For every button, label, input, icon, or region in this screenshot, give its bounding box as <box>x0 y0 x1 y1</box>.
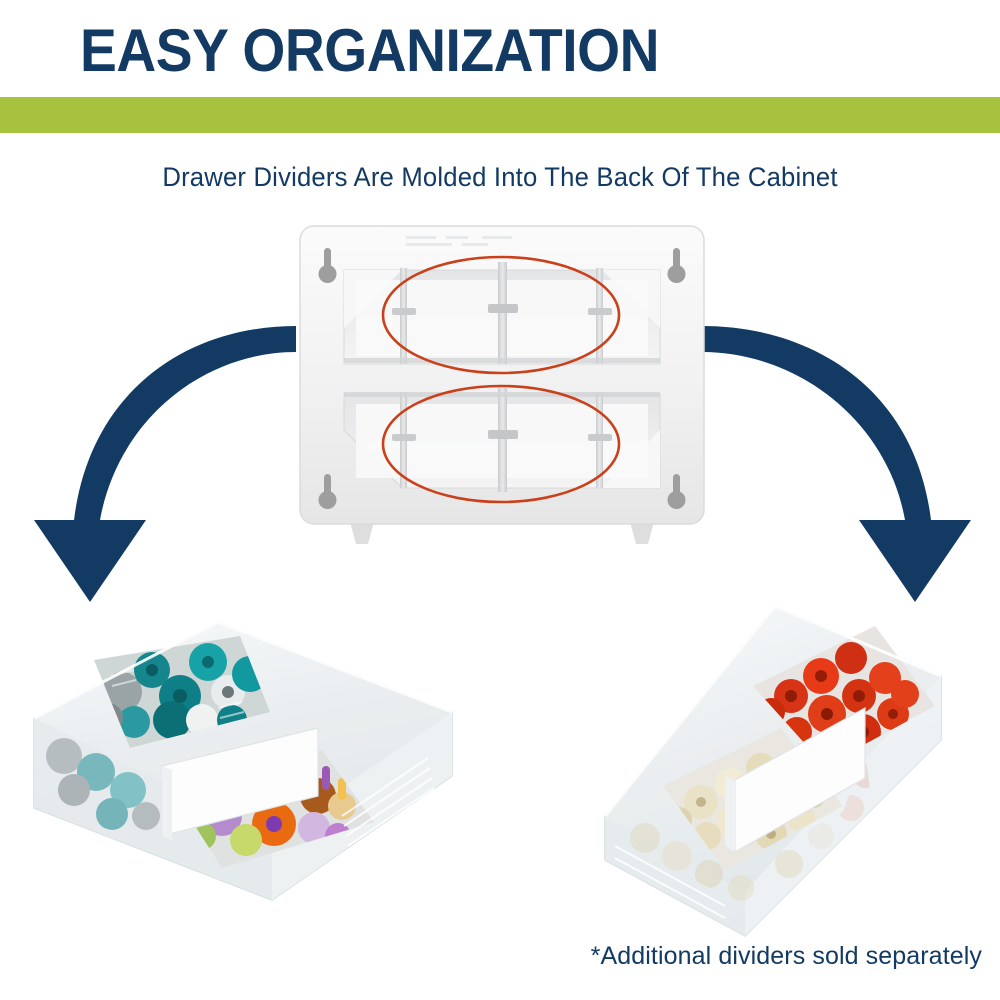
cabinet-upper-well <box>344 262 660 364</box>
drawer-left-with-beads <box>22 600 462 920</box>
divider-rib <box>498 388 507 492</box>
drawer-right-with-beads <box>575 580 1000 940</box>
curved-arrow-left-icon <box>28 330 328 620</box>
subtitle: Drawer Dividers Are Molded Into The Back… <box>25 162 975 193</box>
cabinet-back-panel <box>296 222 708 552</box>
accent-bar <box>0 97 1000 133</box>
cabinet-feet <box>350 522 654 544</box>
page-title: EASY ORGANIZATION <box>80 20 853 82</box>
cabinet-lower-well <box>344 388 660 492</box>
infographic-page: EASY ORGANIZATION Drawer Dividers Are Mo… <box>0 0 1000 1000</box>
curved-arrow-right-icon <box>672 330 982 620</box>
footnote-text: *Additional dividers sold separately <box>0 942 1000 971</box>
